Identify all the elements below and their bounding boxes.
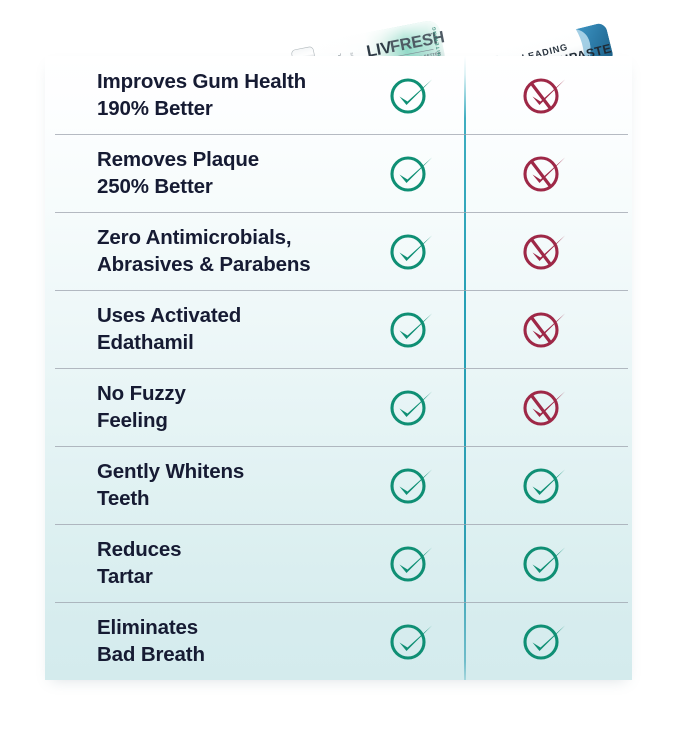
table-row: No Fuzzy Feeling	[45, 368, 632, 446]
check-icon-livfresh	[386, 617, 434, 665]
check-icon-livfresh	[386, 71, 434, 119]
check-icon-leading	[519, 617, 567, 665]
table-row: Gently Whitens Teeth	[45, 446, 632, 524]
row-label: Eliminates Bad Breath	[97, 614, 397, 668]
check-icon-leading	[519, 539, 567, 587]
cross-icon-leading	[519, 305, 567, 353]
table-row: Zero Antimicrobials, Abrasives & Paraben…	[45, 212, 632, 290]
table-row: Improves Gum Health 190% Better	[45, 56, 632, 134]
comparison-table: Improves Gum Health 190% BetterRemoves P…	[45, 56, 632, 680]
check-icon-livfresh	[386, 149, 434, 197]
cross-icon-leading	[519, 227, 567, 275]
check-icon-livfresh	[386, 227, 434, 275]
comparison-infographic: DENTAL GEL PLAQUE LIV FRESH ™ REMOVES PL…	[0, 0, 679, 751]
check-icon-leading	[519, 461, 567, 509]
check-icon-livfresh	[386, 305, 434, 353]
table-row: Eliminates Bad Breath	[45, 602, 632, 680]
check-icon-livfresh	[386, 539, 434, 587]
cross-icon-leading	[519, 71, 567, 119]
cross-icon-leading	[519, 383, 567, 431]
table-row: Uses Activated Edathamil	[45, 290, 632, 368]
table-row: Removes Plaque 250% Better	[45, 134, 632, 212]
table-row: Reduces Tartar	[45, 524, 632, 602]
check-icon-livfresh	[386, 461, 434, 509]
cross-icon-leading	[519, 149, 567, 197]
row-label: Reduces Tartar	[97, 536, 397, 590]
row-label: Removes Plaque 250% Better	[97, 146, 397, 200]
row-label: Zero Antimicrobials, Abrasives & Paraben…	[97, 224, 397, 278]
row-label: Improves Gum Health 190% Better	[97, 68, 397, 122]
check-icon-livfresh	[386, 383, 434, 431]
row-label: Uses Activated Edathamil	[97, 302, 397, 356]
row-label: No Fuzzy Feeling	[97, 380, 397, 434]
row-label: Gently Whitens Teeth	[97, 458, 397, 512]
